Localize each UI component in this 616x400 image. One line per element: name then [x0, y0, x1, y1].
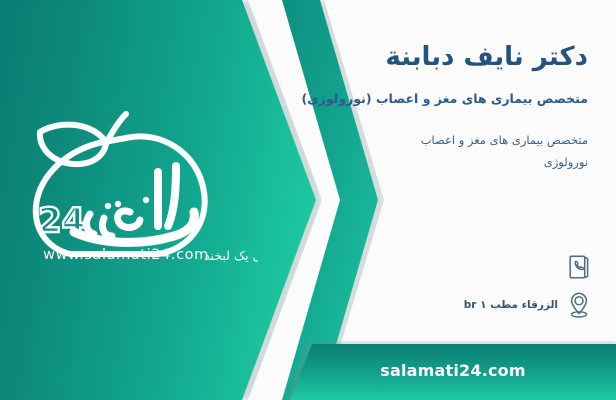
contact-row-phone[interactable] — [558, 252, 592, 282]
footer-site-label: salamati24.com — [290, 361, 616, 380]
specialty-secondary-line-1: متخصص بیماری های مغز و اعصاب — [421, 133, 588, 147]
footer-bar: salamati24.com — [290, 344, 616, 400]
brand-logo: 24 به راحتی یک لبخند www.salamati24.com — [8, 108, 258, 268]
phone-book-icon — [566, 252, 592, 282]
contact-location-label: الزرقاء مطب ۱ br — [464, 299, 558, 311]
apple-outline-mark: 24 به راحتی یک لبخند — [8, 108, 258, 268]
logo-url: www.salamati24.com — [8, 247, 244, 263]
logo-badge-24: 24 — [38, 201, 85, 241]
specialty-secondary-line-2: نورولوژی — [544, 155, 588, 169]
business-card: 24 به راحتی یک لبخند www.salamati24.com … — [0, 0, 616, 400]
doctor-info-panel: دکتر نايف دبابنة متخصص بیماری های مغز و … — [300, 0, 616, 340]
specialty-primary: متخصص بیماری های مغز و اعصاب (نورولوژی) — [301, 91, 588, 106]
location-pin-icon — [566, 290, 592, 320]
page-title: دکتر نايف دبابنة — [385, 42, 588, 72]
contact-row-location[interactable]: الزرقاء مطب ۱ br — [464, 290, 592, 320]
